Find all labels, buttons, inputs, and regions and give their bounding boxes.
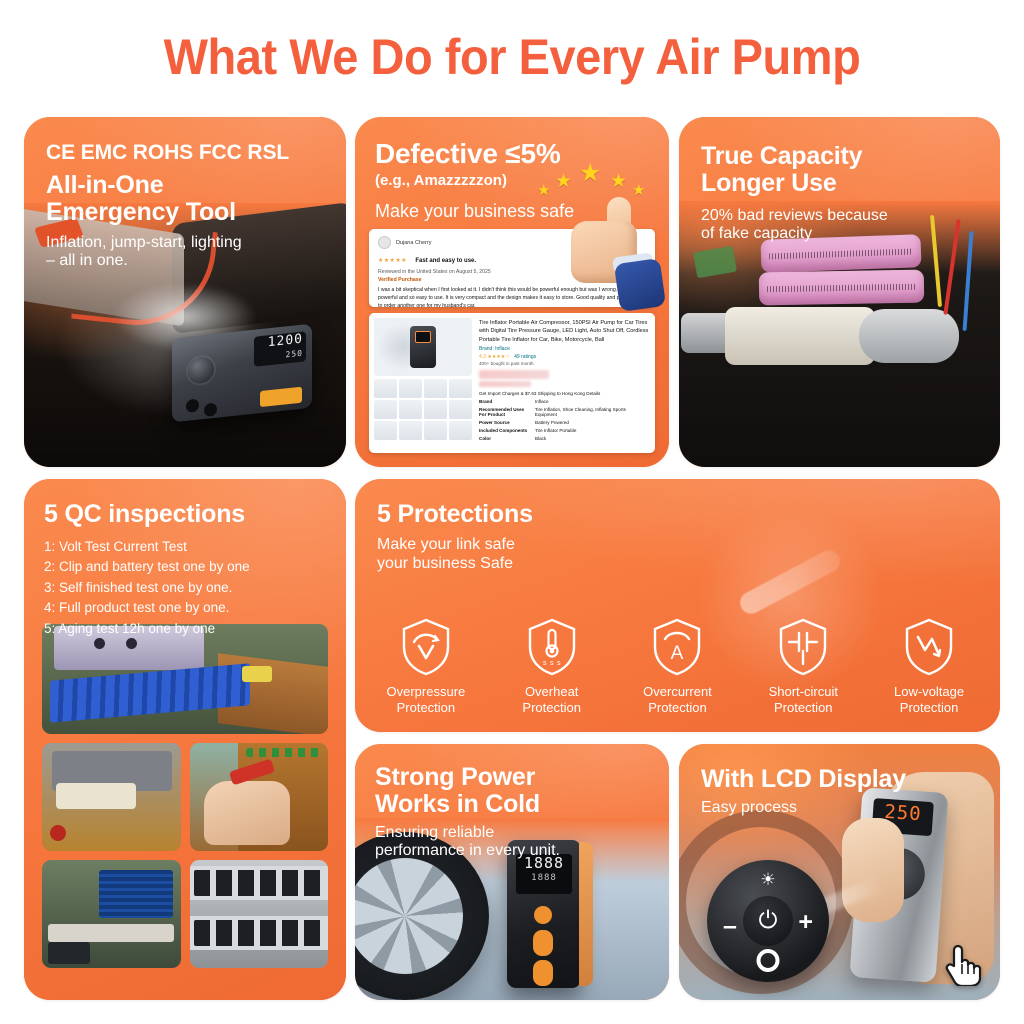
device-lcd-screen: 1200 250 (254, 331, 306, 366)
page-title: What We Do for Every Air Pump (31, 28, 994, 86)
star-icon: ★ (610, 172, 627, 191)
protection-item-overcurrent: A Overcurrent Protection (618, 617, 736, 717)
protection-label-overheat: Overheat Protection (493, 684, 611, 717)
review-author: Dujana Cherry (396, 240, 431, 246)
power-button-icon[interactable]: ⏻ (743, 896, 793, 946)
listing-rating-value: 4.3 (479, 354, 486, 360)
qc-photo-clip-test (190, 743, 329, 851)
pump-motor-shape (859, 309, 959, 363)
device-dial (188, 356, 214, 385)
all-in-one-heading-line2: Emergency Tool (46, 199, 332, 226)
all-in-one-sub-line2: – all in one. (46, 252, 332, 271)
protection-item-overheat: s s s Overheat Protection (493, 617, 611, 717)
pcb-board-shape (693, 246, 737, 279)
gauge-needle-decoration (736, 546, 843, 617)
shield-short-circuit-icon (776, 617, 830, 677)
avatar (378, 236, 391, 249)
defective-heading: Defective ≤5% (375, 139, 574, 169)
card-qc-text: 5 QC inspections 1: Volt Test Current Te… (44, 501, 250, 639)
battery-label-text (767, 284, 916, 293)
listing-title[interactable]: Tire Inflator Portable Air Compressor, 1… (479, 319, 649, 344)
protection-label-line1: Overcurrent (618, 684, 736, 700)
listing-thumbnail[interactable] (449, 379, 472, 398)
listing-main-image[interactable] (374, 318, 472, 376)
lcd-subtext: Easy process (701, 799, 906, 818)
protection-label-line1: Overheat (493, 684, 611, 700)
spec-value: Tire Inflation, Shoe Cleaning, Inflating… (535, 407, 649, 417)
listing-thumbnail[interactable] (374, 400, 397, 419)
minus-icon: – (723, 912, 737, 941)
card-true-capacity: True Capacity Longer Use 20% bad reviews… (679, 117, 1000, 467)
protection-item-low-voltage: Low-voltage Protection (870, 617, 988, 717)
all-in-one-heading: All-in-One Emergency Tool (46, 172, 332, 226)
hand-fingers-shape (842, 818, 904, 922)
protection-label-line2: Protection (493, 700, 611, 716)
listing-thumbnail[interactable] (449, 421, 472, 440)
listing-spec-row: Included Components Tire Inflator Portab… (479, 428, 649, 433)
protection-label-line2: Protection (870, 700, 988, 716)
worker-hand-shape (204, 781, 290, 845)
protections-subtext: Make your link safe your business Safe (377, 536, 533, 574)
listing-thumbnail[interactable] (424, 400, 447, 419)
listing-gallery (369, 313, 477, 453)
shield-low-voltage-icon (902, 617, 956, 677)
protection-label-line2: Protection (367, 700, 485, 716)
true-capacity-subtext: 20% bad reviews because of fake capacity (701, 207, 888, 245)
star-icon: ★ (579, 161, 601, 186)
strong-power-sub-line1: Ensuring reliable (375, 824, 560, 843)
qc-photo-battery-test (42, 624, 328, 734)
device-port-1 (186, 399, 199, 413)
strong-power-heading-line1: Strong Power (375, 764, 560, 791)
card-all-in-one-text: CE EMC ROHS FCC RSL All-in-One Emergency… (46, 141, 332, 271)
qc-list-item: 4: Full product test one by one. (44, 598, 250, 619)
qc-list-item: 1: Volt Test Current Test (44, 537, 250, 558)
listing-shipping-note: Get Import Charges & $7.63 Shipping to H… (479, 391, 649, 396)
qc-list: 1: Volt Test Current Test 2: Clip and ba… (44, 537, 250, 640)
pump-body-shape (725, 307, 875, 365)
protection-label-line1: Low-voltage (870, 684, 988, 700)
card-qc-inspections: 5 QC inspections 1: Volt Test Current Te… (24, 479, 346, 1000)
listing-spec-row: Color Black (479, 436, 649, 441)
listing-rating-stars: ★★★★☆ (487, 354, 509, 360)
qc-photo-data-logging (42, 860, 181, 968)
all-in-one-heading-line1: All-in-One (46, 172, 332, 199)
strong-power-heading: Strong Power Works in Cold (375, 764, 560, 818)
card-all-in-one: 1200 250 CE EMC ROHS FCC RSL All-in-One … (24, 117, 346, 467)
infographic-page: What We Do for Every Air Pump 1200 250 (0, 0, 1024, 1024)
listing-thumbnail[interactable] (399, 379, 422, 398)
device-yellow-strap (260, 387, 302, 407)
spec-label: Color (479, 436, 531, 441)
tool-case-shape (48, 942, 90, 964)
strong-power-subtext: Ensuring reliable performance in every u… (375, 824, 560, 862)
listing-thumbnails (374, 379, 472, 440)
device-lcd-sub: 1888 (516, 873, 572, 884)
qc-list-item: 5: Aging test 12h one by one (44, 619, 250, 640)
qc-photo-row-2 (42, 860, 328, 968)
blue-wire (963, 231, 974, 331)
protections-sub-line1: Make your link safe (377, 536, 533, 555)
spec-value: Battery Powered (535, 420, 569, 425)
white-fixture-shape (56, 783, 136, 809)
shield-overcurrent-icon: A (650, 617, 704, 677)
plus-icon: + (798, 908, 813, 937)
card-strong-power: 1888 1888 Strong Power Works in Cold Ens… (355, 744, 669, 1000)
listing-rating: 4.3 ★★★★☆ 49 ratings (479, 354, 649, 360)
amazon-listing-card: Tire Inflator Portable Air Compressor, 1… (369, 313, 655, 453)
spec-value: Inflace (535, 399, 549, 404)
listing-rating-count[interactable]: 49 ratings (514, 354, 536, 360)
listing-thumbnail[interactable] (424, 421, 447, 440)
defective-subtext: Make your business safe (375, 201, 574, 222)
shield-overpressure-icon (399, 617, 453, 677)
card-protections-text: 5 Protections Make your link safe your b… (377, 501, 533, 574)
true-capacity-heading: True Capacity Longer Use (701, 143, 888, 197)
qc-heading: 5 QC inspections (44, 501, 250, 528)
battery-cell-lower (759, 270, 925, 306)
listing-price-redacted (479, 370, 549, 379)
protection-label-short-circuit: Short-circuit Protection (744, 684, 862, 717)
aging-units-row (194, 920, 325, 946)
strong-power-sub-line2: performance in every unit. (375, 842, 560, 861)
thumbs-up-icon (565, 195, 661, 311)
protections-icon-row: Overpressure Protection s s s Overheat P… (363, 617, 992, 717)
svg-text:s: s (557, 660, 561, 667)
spec-label: Brand (479, 399, 531, 404)
listing-thumbnail[interactable] (449, 400, 472, 419)
true-capacity-heading-line1: True Capacity (701, 143, 888, 170)
battery-label-text (769, 248, 913, 259)
device-lcd-sub: 250 (257, 347, 303, 366)
card-protections: 5 Protections Make your link safe your b… (355, 479, 1000, 732)
aging-units-row (194, 870, 325, 896)
protection-label-overcurrent: Overcurrent Protection (618, 684, 736, 717)
card-lcd-display: 250 ⏻ ☀ – + ⏻ With LCD Display (679, 744, 1000, 1000)
svg-text:A: A (671, 643, 684, 664)
thumb-cuff-blue (614, 258, 666, 312)
listing-brand-link[interactable]: Brand: Inflace (479, 346, 649, 352)
machine-knob (94, 638, 105, 649)
card-defective-rate: Defective ≤5% (e.g., Amazzzzzon) Make yo… (355, 117, 669, 467)
card-strong-power-text: Strong Power Works in Cold Ensuring reli… (375, 764, 560, 861)
device-orange-side (579, 842, 593, 986)
machine-knob (126, 638, 137, 649)
protection-label-line1: Short-circuit (744, 684, 862, 700)
shield-overheat-icon: s s s (525, 617, 579, 677)
listing-thumbnail[interactable] (374, 379, 397, 398)
protection-label-line1: Overpressure (367, 684, 485, 700)
listing-product-shape (410, 326, 436, 368)
device-power-button (534, 906, 552, 924)
emergency-stop-button (50, 825, 66, 841)
control-pad-callout: ☀ – + ⏻ (707, 860, 829, 982)
protections-sub-line2: your business Safe (377, 555, 533, 574)
listing-spec-row: Recommended Uses For Product Tire Inflat… (479, 407, 649, 417)
listing-info: Tire Inflator Portable Air Compressor, 1… (477, 313, 655, 453)
listing-price-secondary-redacted (479, 381, 531, 387)
red-wire (943, 219, 960, 315)
certifications-label: CE EMC ROHS FCC RSL (46, 141, 332, 165)
lcd-heading: With LCD Display (701, 766, 906, 793)
true-capacity-heading-line2: Longer Use (701, 170, 888, 197)
spec-value: Black (535, 436, 546, 441)
listing-thumbnail[interactable] (399, 400, 422, 419)
hand-cursor-icon (942, 940, 984, 986)
protections-heading: 5 Protections (377, 501, 533, 528)
card-true-capacity-text: True Capacity Longer Use 20% bad reviews… (701, 143, 888, 244)
card-lcd-text: With LCD Display Easy process (701, 766, 906, 818)
spec-label: Recommended Uses For Product (479, 407, 531, 417)
green-indicator-lights (246, 748, 322, 757)
all-in-one-subtext: Inflation, jump-start, lighting – all in… (46, 234, 332, 272)
protection-label-line2: Protection (618, 700, 736, 716)
monitor-screen-shape (99, 870, 173, 918)
spec-label: Included Components (479, 428, 531, 433)
protection-label-low-voltage: Low-voltage Protection (870, 684, 988, 717)
jump-starter-device: 1200 250 (172, 324, 312, 423)
test-strip-shape (48, 924, 174, 942)
card-defective-text: Defective ≤5% (e.g., Amazzzzzon) Make yo… (375, 139, 574, 222)
review-title: Fast and easy to use. (415, 258, 476, 264)
air-pump-device: 1888 1888 (507, 840, 581, 988)
protection-label-line2: Protection (744, 700, 862, 716)
spec-value: Tire Inflator Portable (535, 428, 576, 433)
protection-item-short-circuit: Short-circuit Protection (744, 617, 862, 717)
qc-photo-assembly-rig (42, 743, 181, 851)
defective-example-note: (e.g., Amazzzzzon) (375, 172, 574, 189)
device-preset-button (533, 960, 553, 986)
yellow-pad-shape (242, 666, 272, 682)
listing-thumbnail[interactable] (374, 421, 397, 440)
svg-text:s: s (543, 660, 547, 667)
strong-power-heading-line2: Works in Cold (375, 791, 560, 818)
protection-label-overpressure: Overpressure Protection (367, 684, 485, 717)
qc-photo-grid (42, 624, 328, 977)
svg-text:s: s (550, 660, 554, 667)
device-port-2 (204, 403, 217, 417)
qc-photo-aging-rack (190, 860, 329, 968)
qc-photo-row-1 (42, 743, 328, 851)
listing-spec-row: Power Source Battery Powered (479, 420, 649, 425)
listing-thumbnail[interactable] (399, 421, 422, 440)
yellow-wire (930, 215, 942, 307)
protection-item-overpressure: Overpressure Protection (367, 617, 485, 717)
listing-spec-row: Brand Inflace (479, 399, 649, 404)
qc-list-item: 3: Self finished test one by one. (44, 578, 250, 599)
review-stars: ★★★★★ (378, 257, 407, 264)
listing-thumbnail[interactable] (424, 379, 447, 398)
true-capacity-sub-line2: of fake capacity (701, 225, 888, 244)
qc-list-item: 2: Clip and battery test one by one (44, 557, 250, 578)
all-in-one-sub-line1: Inflation, jump-start, lighting (46, 234, 332, 253)
light-icon: ☀ (760, 870, 775, 890)
true-capacity-sub-line1: 20% bad reviews because (701, 207, 888, 226)
mode-icon (757, 949, 780, 972)
listing-bought-count: 400+ bought in past month (479, 361, 649, 366)
device-mode-button (533, 930, 553, 956)
spec-label: Power Source (479, 420, 531, 425)
